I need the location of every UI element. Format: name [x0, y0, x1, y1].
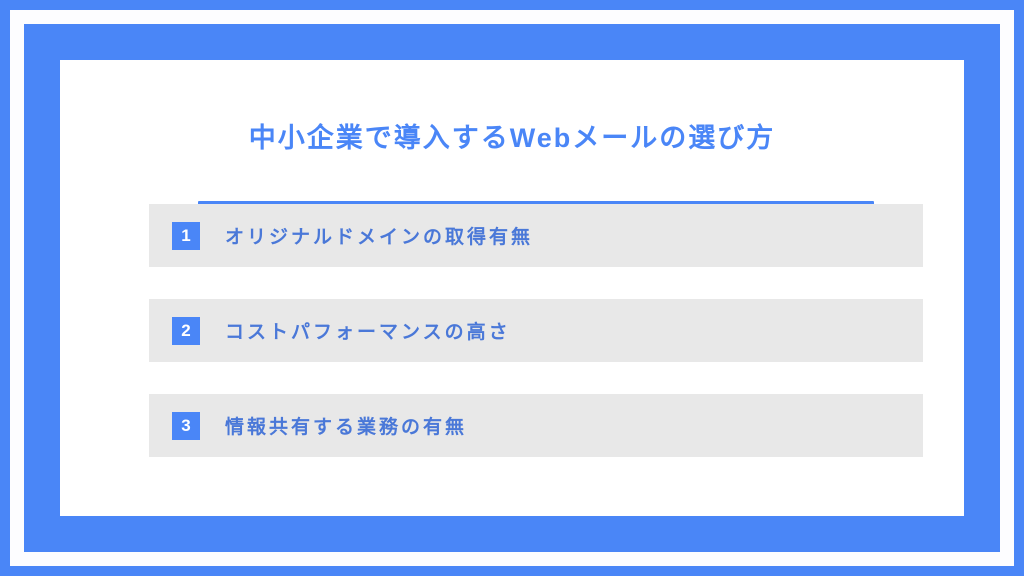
- list-item[interactable]: 1 オリジナルドメインの取得有無: [149, 204, 923, 267]
- list-item-label: コストパフォーマンスの高さ: [225, 317, 923, 344]
- frame-white-gap: 中小企業で導入するWebメールの選び方 1 オリジナルドメインの取得有無 2 コ…: [10, 10, 1014, 566]
- title-block: 中小企業で導入するWebメールの選び方: [60, 122, 964, 156]
- checklist: 1 オリジナルドメインの取得有無 2 コストパフォーマンスの高さ 3 情報共有す…: [149, 204, 923, 457]
- list-item[interactable]: 2 コストパフォーマンスの高さ: [149, 299, 923, 362]
- slide: 中小企業で導入するWebメールの選び方 1 オリジナルドメインの取得有無 2 コ…: [0, 0, 1024, 576]
- list-item-label: オリジナルドメインの取得有無: [225, 222, 923, 249]
- list-item-number-badge: 3: [172, 412, 200, 440]
- list-item-label: 情報共有する業務の有無: [225, 412, 923, 439]
- list-item-number-badge: 1: [172, 222, 200, 250]
- frame-inner-band: 中小企業で導入するWebメールの選び方 1 オリジナルドメインの取得有無 2 コ…: [24, 24, 1000, 552]
- page-title: 中小企業で導入するWebメールの選び方: [60, 122, 964, 156]
- list-item-number-badge: 2: [172, 317, 200, 345]
- list-item[interactable]: 3 情報共有する業務の有無: [149, 394, 923, 457]
- slide-canvas: 中小企業で導入するWebメールの選び方 1 オリジナルドメインの取得有無 2 コ…: [60, 60, 964, 516]
